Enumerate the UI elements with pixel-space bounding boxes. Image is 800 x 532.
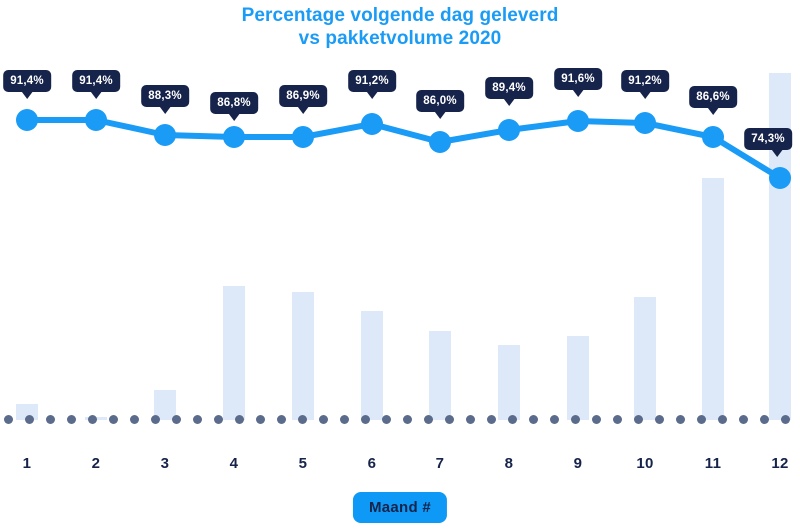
line-path <box>27 120 780 178</box>
x-tick-label-6: 6 <box>368 455 377 472</box>
x-tick-label-7: 7 <box>436 455 445 472</box>
data-label-month-5: 86,9% <box>279 85 327 107</box>
data-label-month-10: 91,2% <box>621 70 669 92</box>
line-marker-month-11 <box>702 126 724 148</box>
data-label-month-11: 86,6% <box>689 86 737 108</box>
x-tick-label-3: 3 <box>161 455 170 472</box>
x-tick-label-5: 5 <box>299 455 308 472</box>
line-marker-month-5 <box>292 126 314 148</box>
data-label-month-2: 91,4% <box>72 70 120 92</box>
data-label-month-8: 89,4% <box>485 77 533 99</box>
x-tick-label-11: 11 <box>705 455 721 472</box>
line-markers <box>16 109 791 189</box>
data-label-month-3: 88,3% <box>141 85 189 107</box>
data-label-month-6: 91,2% <box>348 70 396 92</box>
plot-area: 91,4%91,4%88,3%86,8%86,9%91,2%86,0%89,4%… <box>0 0 800 440</box>
line-marker-month-6 <box>361 113 383 135</box>
line-marker-month-8 <box>498 119 520 141</box>
x-axis-title-pill: Maand # <box>353 492 447 523</box>
data-label-month-9: 91,6% <box>554 68 602 90</box>
data-label-month-4: 86,8% <box>210 92 258 114</box>
line-marker-month-1 <box>16 109 38 131</box>
x-tick-label-8: 8 <box>505 455 514 472</box>
line-marker-month-9 <box>567 110 589 132</box>
x-tick-label-9: 9 <box>574 455 583 472</box>
line-marker-month-2 <box>85 109 107 131</box>
x-tick-label-10: 10 <box>636 455 653 472</box>
data-label-month-1: 91,4% <box>3 70 51 92</box>
x-tick-label-4: 4 <box>230 455 239 472</box>
line-marker-month-12 <box>769 167 791 189</box>
line-marker-month-7 <box>429 131 451 153</box>
line-marker-month-4 <box>223 126 245 148</box>
data-label-month-7: 86,0% <box>416 90 464 112</box>
x-tick-label-12: 12 <box>771 455 788 472</box>
x-tick-label-1: 1 <box>23 455 32 472</box>
line-series-percentage-volgende-dag-geleverd <box>0 0 800 440</box>
chart-container: Percentage volgende dag geleverd vs pakk… <box>0 0 800 532</box>
line-marker-month-10 <box>634 112 656 134</box>
x-tick-label-2: 2 <box>92 455 101 472</box>
line-marker-month-3 <box>154 124 176 146</box>
data-label-month-12: 74,3% <box>744 128 792 150</box>
